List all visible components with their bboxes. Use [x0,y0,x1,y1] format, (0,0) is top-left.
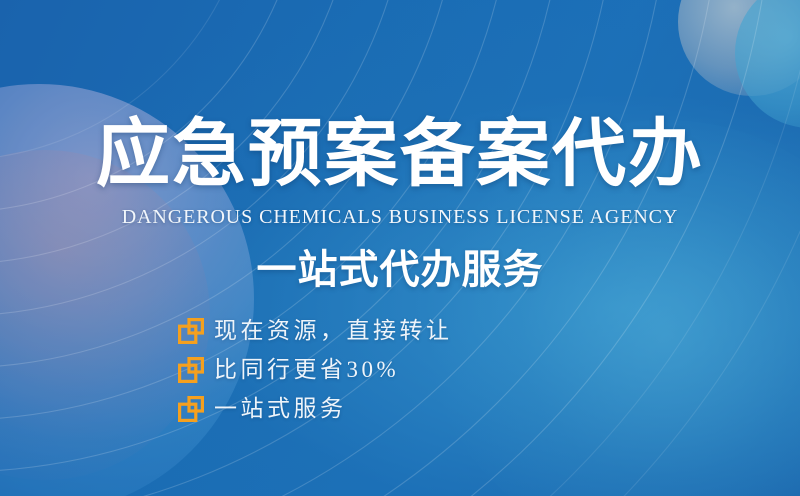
page-subtitle: 一站式代办服务 [0,245,800,295]
overlapping-squares-icon [178,357,204,383]
list-item: 一站式服务 [178,394,453,424]
list-item-label: 一站式服务 [214,394,347,424]
list-item-label: 比同行更省30% [214,355,399,385]
list-item: 现在资源，直接转让 [178,316,453,346]
feature-list: 现在资源，直接转让 比同行更省30% 一站式服务 [178,316,453,424]
overlapping-squares-icon [178,396,204,422]
page-title-english: DANGEROUS CHEMICALS BUSINESS LICENSE AGE… [0,204,800,230]
promo-banner: 应急预案备案代办 DANGEROUS CHEMICALS BUSINESS LI… [0,0,800,496]
list-item-label: 现在资源，直接转让 [214,316,453,346]
banner-content: 应急预案备案代办 DANGEROUS CHEMICALS BUSINESS LI… [0,0,800,496]
list-item: 比同行更省30% [178,355,453,385]
overlapping-squares-icon [178,318,204,344]
page-title: 应急预案备案代办 [0,112,800,196]
